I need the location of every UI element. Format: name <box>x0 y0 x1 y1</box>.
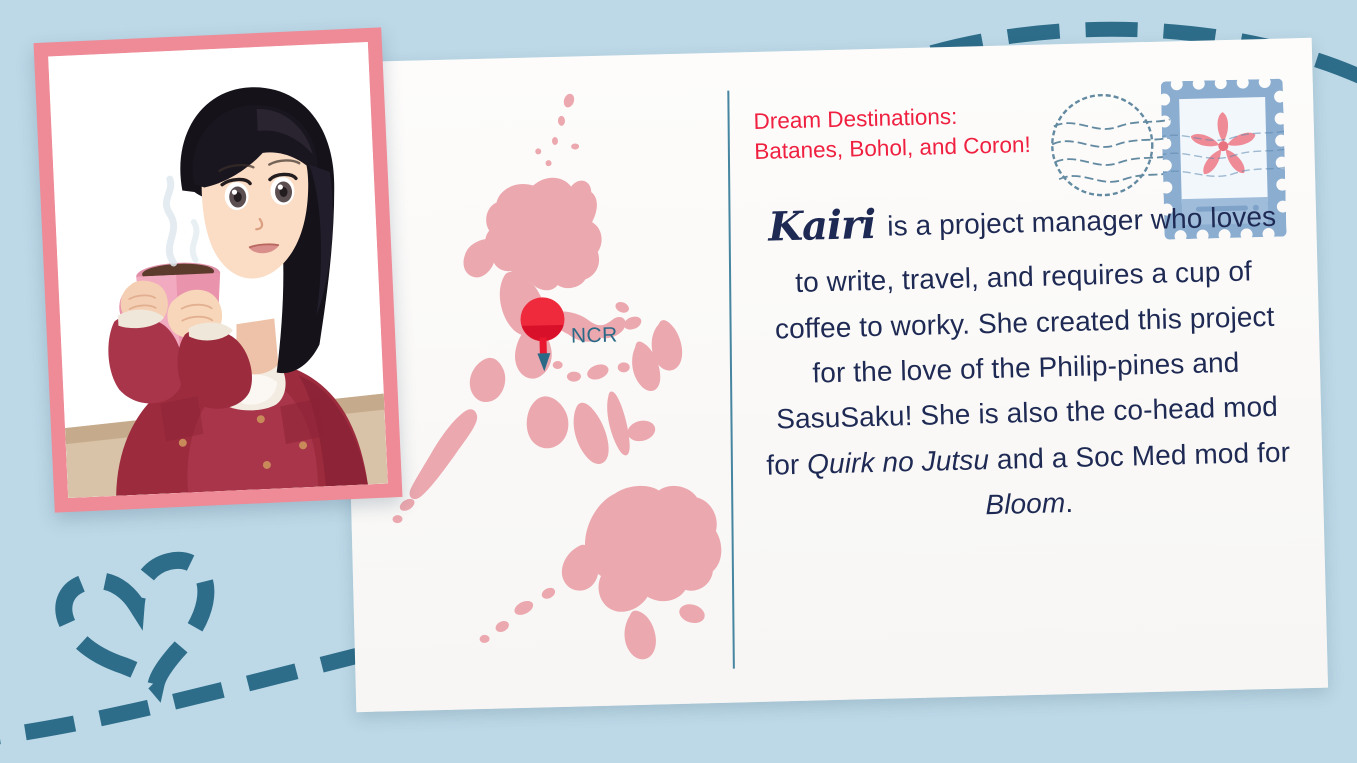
ncr-pin-group[interactable]: NCR <box>514 292 666 376</box>
bio-name: Kairi <box>768 201 880 251</box>
photo-inner <box>48 42 388 498</box>
postcard-panel: NCR <box>340 38 1328 712</box>
portrait-photo <box>48 42 388 498</box>
dashed-heart-icon <box>0 530 380 763</box>
ncr-label: NCR <box>571 323 618 348</box>
photo-frame <box>34 27 403 512</box>
screenshot-canvas: NCR <box>0 0 1357 763</box>
philippines-map: NCR <box>360 72 755 696</box>
text-column: Dream Destinations: Batanes, Bohol, and … <box>753 93 1307 681</box>
bio-italic-bloom: Bloom <box>985 487 1066 520</box>
bio-italic-quirk-no-jutsu: Quirk no Jutsu <box>807 444 990 480</box>
bio-segment-3: . <box>1065 487 1074 518</box>
bio-segment-2: and a Soc Med mod for <box>989 436 1291 475</box>
dream-destinations-heading: Dream Destinations: Batanes, Bohol, and … <box>753 99 1084 167</box>
bio-paragraph: Kairi is a project manager who loves to … <box>755 183 1295 533</box>
